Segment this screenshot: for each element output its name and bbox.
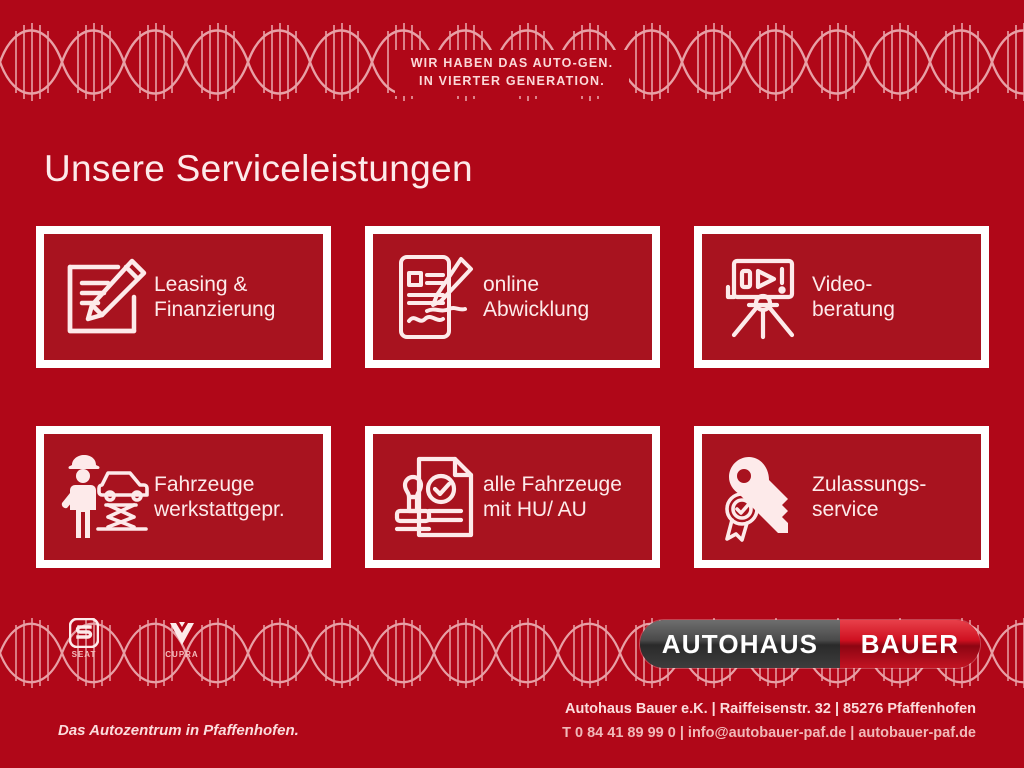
- service-card-label: online Abwicklung: [483, 272, 589, 322]
- document-pencil-icon: [58, 249, 154, 345]
- video-camera-tripod-icon: [716, 249, 812, 345]
- cupra-wordmark: CUPRA: [154, 650, 210, 659]
- contact-address-line: Autohaus Bauer e.K. | Raiffeisenstr. 32 …: [562, 697, 976, 721]
- service-card-label: alle Fahrzeuge mit HU/ AU: [483, 472, 622, 522]
- page-title: Unsere Serviceleistungen: [44, 148, 473, 190]
- service-card-label: Zulassungs- service: [812, 472, 926, 522]
- service-card-label: Video- beratung: [812, 272, 895, 322]
- logo-left-panel: AUTOHAUS: [640, 620, 840, 668]
- contact-phone-email-line: T 0 84 41 89 99 0 | info@autobauer-paf.d…: [562, 721, 976, 745]
- seat-emblem-icon: [56, 618, 112, 648]
- seat-brand: SEAT: [56, 618, 112, 659]
- company-tagline: Das Autozentrum in Pfaffenhofen.: [58, 722, 299, 739]
- service-card-label: Fahrzeuge werkstattgepr.: [154, 472, 285, 522]
- seat-wordmark: SEAT: [56, 650, 112, 659]
- online-signature-icon: [387, 249, 483, 345]
- service-card-hu-au[interactable]: alle Fahrzeuge mit HU/ AU: [365, 426, 660, 568]
- service-card-zulassungsservice[interactable]: Zulassungs- service: [694, 426, 989, 568]
- logo-right-panel: BAUER: [840, 620, 980, 668]
- dna-helix-band-top: [0, 12, 1024, 112]
- stamp-certificate-icon: [387, 449, 483, 545]
- service-card-online-abwicklung[interactable]: online Abwicklung: [365, 226, 660, 368]
- logo-bauer-text: BAUER: [861, 629, 959, 660]
- service-card-leasing[interactable]: Leasing & Finanzierung: [36, 226, 331, 368]
- logo-autohaus-text: AUTOHAUS: [662, 629, 818, 660]
- contact-info: Autohaus Bauer e.K. | Raiffeisenstr. 32 …: [562, 697, 976, 745]
- cupra-brand: CUPRA: [154, 618, 210, 659]
- service-card-label: Leasing & Finanzierung: [154, 272, 275, 322]
- brand-emblem-row: SEAT CUPRA: [56, 618, 226, 670]
- mechanic-car-lift-icon: [58, 449, 154, 545]
- service-card-grid: Leasing & Finanzierung: [36, 226, 988, 568]
- key-rosette-icon: [716, 449, 812, 545]
- service-card-werkstattgeprueft[interactable]: Fahrzeuge werkstattgepr.: [36, 426, 331, 568]
- cupra-emblem-icon: [154, 618, 210, 648]
- service-card-videoberatung[interactable]: Video- beratung: [694, 226, 989, 368]
- autohaus-bauer-logo[interactable]: AUTOHAUS BAUER: [640, 620, 980, 668]
